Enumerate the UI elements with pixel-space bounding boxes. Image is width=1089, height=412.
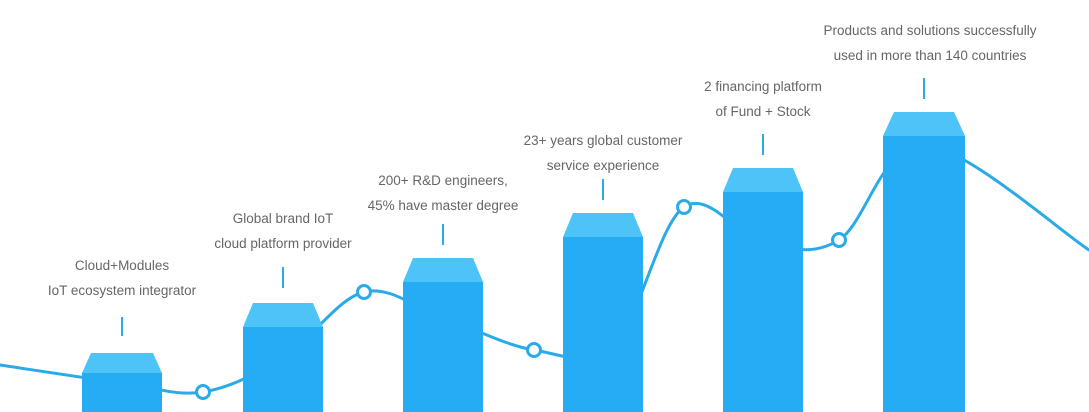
trend-marker-circle[interactable] xyxy=(678,201,691,214)
bar-body xyxy=(563,237,643,412)
bar-top-face xyxy=(723,168,803,192)
bar-top-face xyxy=(82,353,162,373)
bar-body xyxy=(723,192,803,412)
label-ticks-group xyxy=(122,78,924,336)
bar-top-face xyxy=(883,112,965,136)
bar-body xyxy=(243,327,323,412)
trend-marker-circle[interactable] xyxy=(358,286,371,299)
bar-column[interactable] xyxy=(723,168,803,412)
bars-group xyxy=(82,112,965,412)
bar-top-face xyxy=(563,213,643,237)
trend-marker-circle[interactable] xyxy=(833,234,846,247)
bar-column[interactable] xyxy=(403,258,483,412)
bar-body xyxy=(403,282,483,412)
trend-marker-circle[interactable] xyxy=(528,344,541,357)
bar-body xyxy=(883,136,965,412)
step-bar-chart xyxy=(0,0,1089,412)
trend-marker-circle[interactable] xyxy=(197,386,210,399)
bar-column[interactable] xyxy=(82,353,162,412)
bar-body xyxy=(82,373,162,412)
bar-column[interactable] xyxy=(243,303,323,412)
bar-column[interactable] xyxy=(563,213,643,412)
bar-column[interactable] xyxy=(883,112,965,412)
bar-top-face xyxy=(243,303,323,327)
infographic-canvas: Cloud+ModulesIoT ecosystem integratorGlo… xyxy=(0,0,1089,412)
bar-top-face xyxy=(403,258,483,282)
